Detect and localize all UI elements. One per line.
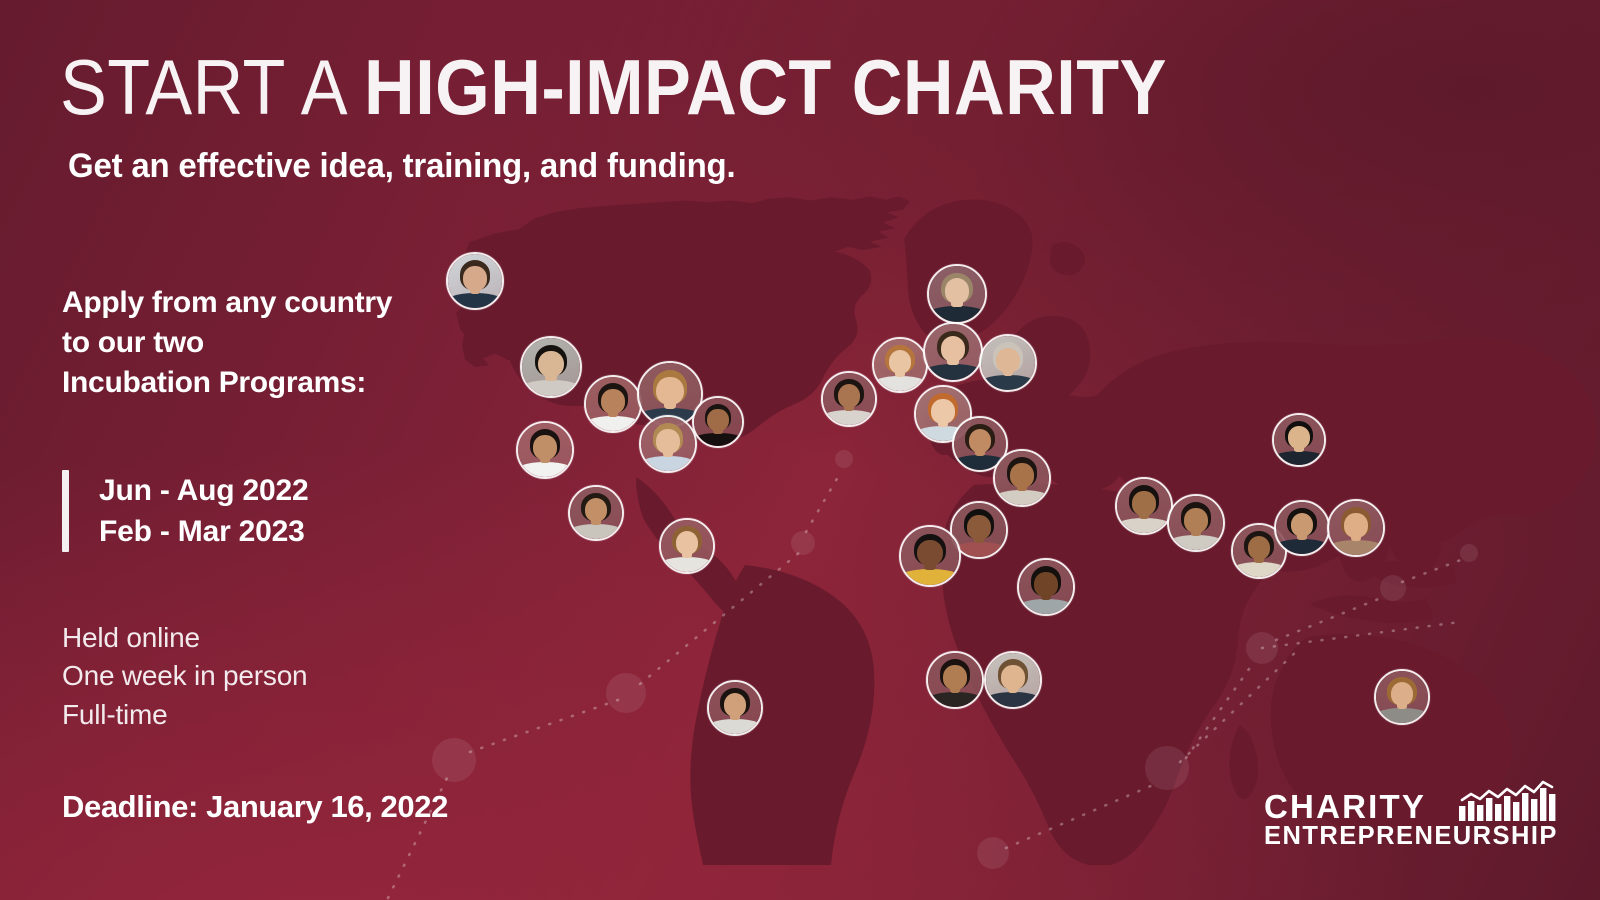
portrait-face bbox=[709, 682, 761, 734]
portrait-face bbox=[928, 653, 982, 707]
portrait-face bbox=[981, 336, 1035, 390]
portrait-india-north bbox=[1115, 477, 1173, 535]
portrait-us-southeast bbox=[639, 415, 697, 473]
map-continents-icon bbox=[456, 196, 1596, 865]
portrait-face bbox=[1169, 496, 1223, 550]
portrait-face bbox=[661, 520, 713, 572]
portrait-west-canada bbox=[520, 336, 582, 398]
portrait-sea-2 bbox=[1327, 499, 1385, 557]
portrait-caribbean bbox=[659, 518, 715, 574]
format-copy: Held online One week in person Full-time bbox=[62, 619, 307, 734]
portrait-south-america bbox=[707, 680, 763, 736]
portrait-face bbox=[518, 423, 572, 477]
portrait-face bbox=[641, 417, 695, 471]
portrait-japan bbox=[1272, 413, 1326, 467]
portrait-face bbox=[694, 398, 742, 446]
dates-list: Jun - Aug 2022 Feb - Mar 2023 bbox=[99, 470, 308, 552]
date-line: Feb - Mar 2023 bbox=[99, 511, 308, 552]
portrait-face bbox=[986, 653, 1040, 707]
portrait-us-east bbox=[692, 396, 744, 448]
portrait-face bbox=[570, 487, 622, 539]
logo-word-charity: CHARITY bbox=[1264, 791, 1426, 822]
bar-chart-growth-icon bbox=[1458, 780, 1558, 822]
portrait-australia bbox=[1374, 669, 1430, 725]
portrait-face bbox=[1276, 502, 1328, 554]
portrait-face bbox=[823, 373, 875, 425]
headline-bold: HIGH-IMPACT CHARITY bbox=[364, 43, 1167, 131]
portrait-uk bbox=[872, 337, 928, 393]
page-title: START A HIGH-IMPACT CHARITY bbox=[60, 48, 1167, 126]
portrait-west-europe bbox=[821, 371, 877, 427]
accent-bar bbox=[62, 470, 69, 552]
portrait-us-west bbox=[516, 421, 574, 479]
portrait-alaska bbox=[446, 252, 504, 310]
portrait-scandinavia bbox=[927, 264, 987, 324]
subtitle: Get an effective idea, training, and fun… bbox=[68, 148, 735, 185]
logo-row-top: CHARITY bbox=[1264, 780, 1558, 822]
apply-copy: Apply from any country to our two Incuba… bbox=[62, 283, 392, 403]
portrait-middle-east bbox=[993, 449, 1051, 507]
portrait-east-europe bbox=[979, 334, 1037, 392]
portrait-face bbox=[901, 527, 959, 585]
headline-thin: START A bbox=[60, 43, 364, 131]
portrait-face bbox=[1329, 501, 1383, 555]
portrait-north-europe bbox=[923, 322, 983, 382]
portrait-face bbox=[1274, 415, 1324, 465]
logo-word-entrepreneurship: ENTREPRENEURSHIP bbox=[1264, 824, 1558, 850]
portrait-south-africa-2 bbox=[984, 651, 1042, 709]
portrait-face bbox=[929, 266, 985, 322]
portrait-east-africa bbox=[1017, 558, 1075, 616]
portrait-sea-1 bbox=[1274, 500, 1330, 556]
portrait-india-south bbox=[1167, 494, 1225, 552]
logo[interactable]: CHARITY ENTREPRENEURSHIP bbox=[1264, 780, 1558, 850]
portrait-face bbox=[522, 338, 580, 396]
portrait-face bbox=[1019, 560, 1073, 614]
deadline-text: Deadline: January 16, 2022 bbox=[62, 789, 448, 825]
portrait-west-africa bbox=[899, 525, 961, 587]
portrait-face bbox=[925, 324, 981, 380]
portrait-face bbox=[448, 254, 502, 308]
portrait-south-africa bbox=[926, 651, 984, 709]
poster-canvas: START A HIGH-IMPACT CHARITY Get an effec… bbox=[0, 0, 1600, 900]
portrait-us-central bbox=[584, 375, 642, 433]
program-dates: Jun - Aug 2022 Feb - Mar 2023 bbox=[62, 470, 308, 552]
portrait-face bbox=[995, 451, 1049, 505]
date-line: Jun - Aug 2022 bbox=[99, 470, 308, 511]
portrait-face bbox=[586, 377, 640, 431]
portrait-mexico bbox=[568, 485, 624, 541]
portrait-face bbox=[1376, 671, 1428, 723]
portrait-face bbox=[874, 339, 926, 391]
portrait-face bbox=[1117, 479, 1171, 533]
